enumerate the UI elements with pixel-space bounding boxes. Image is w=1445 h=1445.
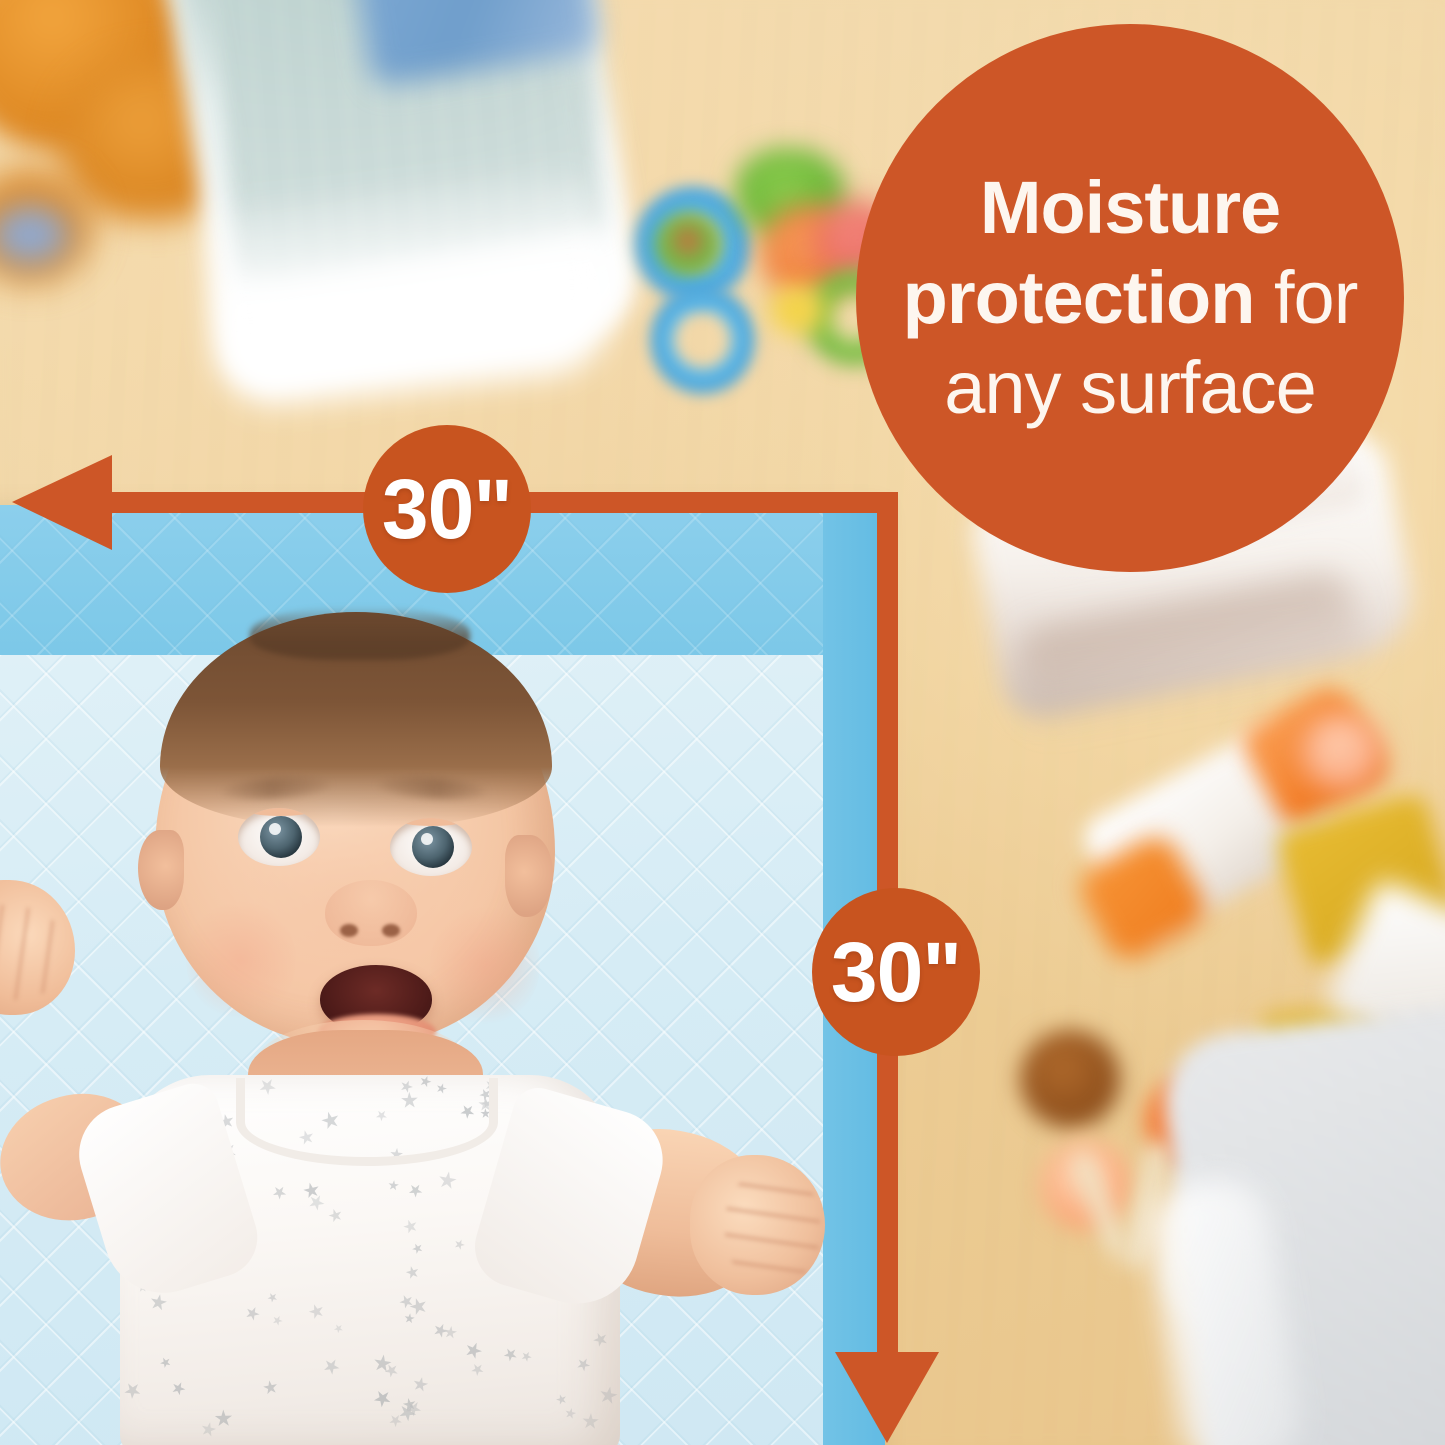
baby-iris-right [412,826,454,868]
claim-line-2-bold: protection [903,256,1255,339]
width-measurement-badge: 30" [363,425,531,593]
baby-eye-left [238,808,320,866]
onesie-star [410,1241,424,1255]
bead-toy-brown [1020,1030,1120,1128]
baby-nostril-left [340,924,358,937]
claim-line-2: protection for [903,253,1358,343]
rattle-ring-lower [650,285,755,395]
onesie-star [307,1302,326,1321]
onesie-star [199,1420,217,1438]
onesie-star [431,1321,450,1340]
onesie-star [501,1346,520,1365]
onesie-star [214,1409,232,1427]
onesie-star [581,1413,599,1431]
baby-hair-wisps [250,606,470,660]
baby-iris-left [260,816,302,858]
onesie-star [320,1355,342,1377]
onesie-star [371,1386,395,1410]
onesie-star [564,1407,578,1421]
onesie-star [262,1379,279,1396]
onesie-star [408,1295,430,1317]
onesie-collar [236,1078,498,1166]
baby-cheek-left [186,900,296,1020]
onesie-star [591,1330,610,1349]
baby-eye-right [390,818,472,876]
onesie-star [401,1218,419,1236]
onesie-star [388,1179,400,1191]
onesie-star [443,1325,458,1340]
onesie-star [158,1355,173,1370]
onesie-star [121,1379,144,1402]
moisture-protection-badge: Moisture protection for any surface [856,24,1404,572]
onesie-star [243,1304,262,1323]
onesie-star [574,1356,593,1375]
baby-nostril-right [382,924,400,937]
onesie-star [452,1238,466,1252]
baby-nose [325,880,417,946]
onesie-star [598,1385,619,1406]
baby-ear-left [138,830,184,910]
onesie-star [519,1349,533,1363]
onesie-star [397,1293,416,1312]
onesie-star [462,1339,484,1361]
onesie-star [270,1183,289,1202]
onesie-star [469,1360,487,1378]
onesie-star [412,1375,430,1393]
onesie-star [404,1312,416,1324]
product-image-canvas: 30" 30" Moisture protection for any surf… [0,0,1445,1445]
height-measurement-badge: 30" [812,888,980,1056]
claim-line-1: Moisture [980,163,1280,253]
onesie-star [170,1379,188,1397]
diaper-pack-highlight [201,170,620,411]
lotion-bottle-tip [1300,712,1385,792]
onesie-star [327,1207,344,1224]
onesie-star [437,1170,458,1191]
onesie-star [270,1314,284,1328]
onesie-star [405,1265,421,1281]
rattle-center [655,212,721,276]
yellow-toy-bead [770,285,825,335]
baby-cheek-right [430,905,540,1025]
onesie-star [406,1181,425,1200]
claim-line-2-for: for [1274,256,1357,339]
claim-line-3: any surface [944,343,1316,433]
baby-fingers-right [725,1170,820,1285]
claim-line-2-light [1254,256,1274,339]
onesie-star [148,1292,168,1312]
onesie-star [555,1393,569,1407]
onesie-star [266,1291,280,1305]
onesie-star [332,1322,345,1335]
